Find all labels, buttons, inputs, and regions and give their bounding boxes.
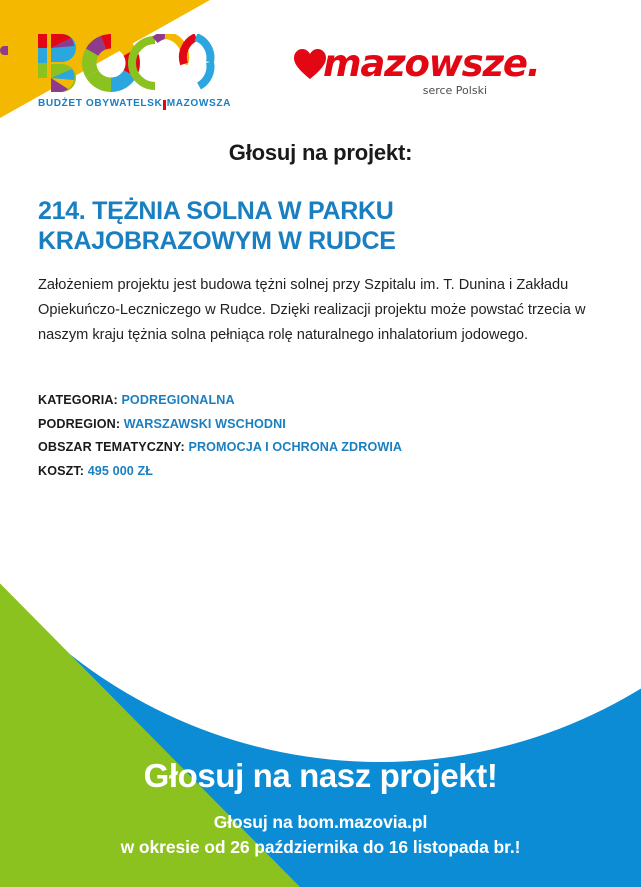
meta-label-kategoria: KATEGORIA: [38,393,118,407]
poster-content: BUDŻET OBYWATELSK MAZOWSZA mazowsze. ser… [0,0,641,887]
project-title: 214. TĘŻNIA SOLNA W PARKU KRAJOBRAZOWYM … [38,196,604,256]
mazowsze-wordmark: mazowsze. [293,42,493,86]
project-description: Założeniem projektu jest budowa tężni so… [38,273,598,348]
meta-value-koszt: 495 000 ZŁ [88,464,153,478]
meta-row-kategoria: KATEGORIA: PODREGIONALNA [38,389,402,413]
meta-label-podregion: PODREGION: [38,417,120,431]
logo-row: BUDŻET OBYWATELSK MAZOWSZA mazowsze. ser… [38,34,493,109]
bom-logo: BUDŻET OBYWATELSK MAZOWSZA [38,34,231,109]
poster-root: BUDŻET OBYWATELSK MAZOWSZA mazowsze. ser… [0,0,641,887]
meta-label-koszt: KOSZT: [38,464,84,478]
heart-icon [293,48,327,80]
cta-headline: Głosuj na nasz projekt! [0,756,641,796]
meta-row-podregion: PODREGION: WARSZAWSKI WSCHODNI [38,413,402,437]
page-kicker: Głosuj na projekt: [0,140,641,166]
mazowsze-logo: mazowsze. serce Polski [293,34,493,97]
meta-label-obszar-tematyczny: OBSZAR TEMATYCZNY: [38,440,185,454]
bom-subtitle-part2: MAZOWSZA [167,98,231,109]
bom-logo-subtitle: BUDŻET OBYWATELSK MAZOWSZA [38,98,231,109]
cta-line-period: w okresie od 26 października do 16 listo… [0,835,641,860]
cta-details: Głosuj na bom.mazovia.pl w okresie od 26… [0,810,641,860]
project-metadata: KATEGORIA: PODREGIONALNA PODREGION: WARS… [38,389,402,483]
bom-subtitle-red-bar-icon [163,100,165,110]
call-to-action: Głosuj na nasz projekt! Głosuj na bom.ma… [0,756,641,860]
bom-subtitle-part1: BUDŻET OBYWATELSK [38,98,162,109]
meta-row-koszt: KOSZT: 495 000 ZŁ [38,460,402,484]
meta-row-obszar-tematyczny: OBSZAR TEMATYCZNY: PROMOCJA I OCHRONA ZD… [38,436,402,460]
bom-logomark-icon [38,34,231,92]
meta-value-obszar-tematyczny: PROMOCJA I OCHRONA ZDROWIA [188,440,402,454]
meta-value-kategoria: PODREGIONALNA [121,393,234,407]
cta-line-website: Głosuj na bom.mazovia.pl [0,810,641,835]
meta-value-podregion: WARSZAWSKI WSCHODNI [124,417,286,431]
